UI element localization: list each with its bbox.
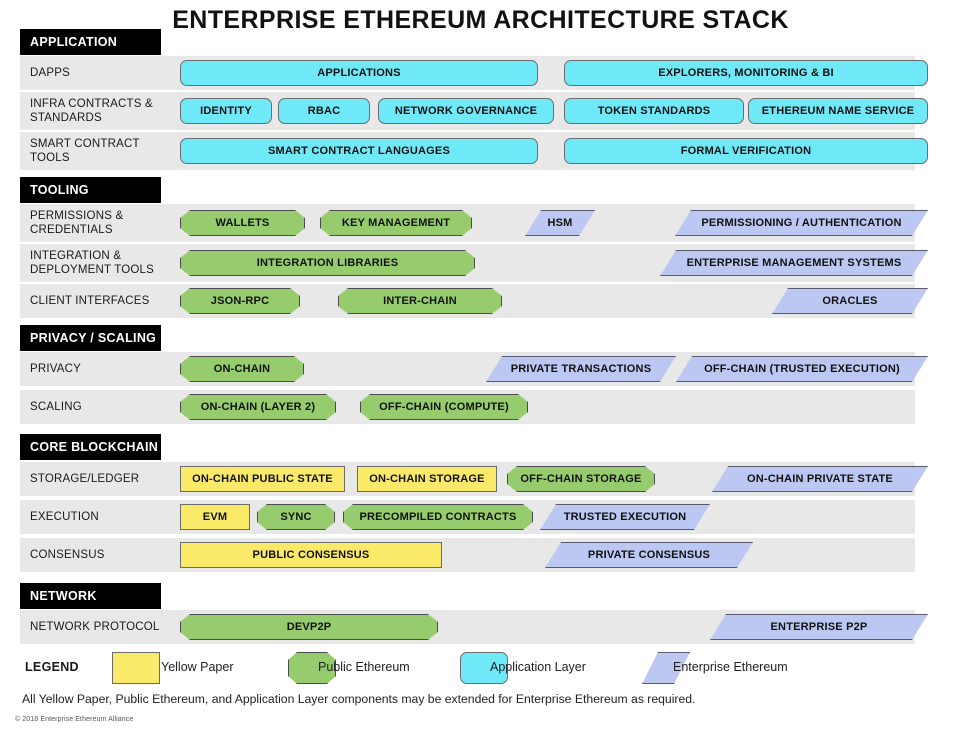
- stack-component-label: PUBLIC CONSENSUS: [247, 549, 376, 561]
- stack-component[interactable]: APPLICATIONS: [180, 60, 538, 86]
- stack-component[interactable]: EVM: [180, 504, 250, 530]
- stack-component-label: ETHEREUM NAME SERVICE: [756, 105, 921, 117]
- stack-component[interactable]: FORMAL VERIFICATION: [564, 138, 928, 164]
- row-label: STORAGE/LEDGER: [30, 462, 170, 496]
- row-label: CLIENT INTERFACES: [30, 284, 170, 318]
- stack-component-label: ON-CHAIN PUBLIC STATE: [186, 473, 339, 485]
- row-label: NETWORK PROTOCOL: [30, 610, 170, 644]
- stack-component-label: EVM: [197, 511, 233, 523]
- stack-component-label: SYNC: [274, 511, 317, 523]
- stack-component-label: WALLETS: [210, 217, 276, 229]
- stack-row: EXECUTIONEVMSYNCPRECOMPILED CONTRACTSTRU…: [20, 500, 915, 534]
- stack-component[interactable]: RBAC: [278, 98, 370, 124]
- stack-component[interactable]: NETWORK GOVERNANCE: [378, 98, 554, 124]
- legend-label: Yellow Paper: [161, 652, 234, 682]
- section-header-tooling: TOOLING: [20, 177, 161, 203]
- stack-component[interactable]: PRIVATE TRANSACTIONS: [486, 356, 676, 382]
- stack-component[interactable]: JSON-RPC: [180, 288, 300, 314]
- architecture-stack-diagram: ENTERPRISE ETHEREUM ARCHITECTURE STACK A…: [0, 0, 961, 736]
- stack-component[interactable]: ETHEREUM NAME SERVICE: [748, 98, 928, 124]
- stack-component[interactable]: INTEGRATION LIBRARIES: [180, 250, 475, 276]
- footnote-text: All Yellow Paper, Public Ethereum, and A…: [22, 692, 695, 706]
- stack-component-label: APPLICATIONS: [311, 67, 406, 79]
- stack-component[interactable]: WALLETS: [180, 210, 305, 236]
- row-label: EXECUTION: [30, 500, 170, 534]
- stack-component[interactable]: ON-CHAIN: [180, 356, 304, 382]
- stack-row: CLIENT INTERFACESJSON-RPCINTER-CHAINORAC…: [20, 284, 915, 318]
- stack-row: DAPPSAPPLICATIONSEXPLORERS, MONITORING &…: [20, 56, 915, 90]
- legend-swatch-yellow-paper: [112, 652, 160, 684]
- stack-row: PRIVACYON-CHAINPRIVATE TRANSACTIONSOFF-C…: [20, 352, 915, 386]
- stack-component-label: OFF-CHAIN (COMPUTE): [373, 401, 515, 413]
- section-header-core-blockchain: CORE BLOCKCHAIN: [20, 434, 161, 460]
- stack-component[interactable]: DEVP2P: [180, 614, 438, 640]
- stack-component-label: ORACLES: [816, 295, 883, 307]
- stack-component[interactable]: ON-CHAIN (LAYER 2): [180, 394, 336, 420]
- stack-component-label: INTEGRATION LIBRARIES: [251, 257, 405, 269]
- stack-row: INTEGRATION & DEPLOYMENT TOOLSINTEGRATIO…: [20, 244, 915, 282]
- stack-component-label: PRIVATE TRANSACTIONS: [505, 363, 658, 375]
- section-header-application: APPLICATION: [20, 29, 161, 55]
- stack-component-label: OFF-CHAIN STORAGE: [514, 473, 647, 485]
- stack-component-label: ON-CHAIN PRIVATE STATE: [741, 473, 899, 485]
- section-header-privacy-scaling: PRIVACY / SCALING: [20, 325, 161, 351]
- stack-component-label: HSM: [541, 217, 578, 229]
- stack-row: STORAGE/LEDGERON-CHAIN PUBLIC STATEON-CH…: [20, 462, 915, 496]
- legend-label: Application Layer: [490, 652, 586, 682]
- row-label: DAPPS: [30, 56, 170, 90]
- stack-component[interactable]: SMART CONTRACT LANGUAGES: [180, 138, 538, 164]
- stack-component-label: KEY MANAGEMENT: [336, 217, 456, 229]
- stack-component[interactable]: PUBLIC CONSENSUS: [180, 542, 442, 568]
- row-label: PERMISSIONS & CREDENTIALS: [30, 204, 170, 242]
- legend-label: Enterprise Ethereum: [673, 652, 788, 682]
- stack-row: SCALINGON-CHAIN (LAYER 2)OFF-CHAIN (COMP…: [20, 390, 915, 424]
- stack-component-label: ON-CHAIN STORAGE: [363, 473, 490, 485]
- legend-label: Public Ethereum: [318, 652, 410, 682]
- stack-component-label: IDENTITY: [194, 105, 258, 117]
- stack-row: CONSENSUSPUBLIC CONSENSUSPRIVATE CONSENS…: [20, 538, 915, 572]
- stack-component-label: JSON-RPC: [205, 295, 275, 307]
- legend-title: LEGEND: [25, 652, 79, 682]
- row-label: CONSENSUS: [30, 538, 170, 572]
- stack-component[interactable]: ON-CHAIN STORAGE: [357, 466, 497, 492]
- stack-component[interactable]: SYNC: [257, 504, 335, 530]
- stack-component-label: PRIVATE CONSENSUS: [582, 549, 716, 561]
- stack-component-label: SMART CONTRACT LANGUAGES: [262, 145, 456, 157]
- stack-component[interactable]: PRECOMPILED CONTRACTS: [343, 504, 533, 530]
- stack-row: NETWORK PROTOCOLDEVP2PENTERPRISE P2P: [20, 610, 915, 644]
- legend: LEGENDYellow PaperPublic EthereumApplica…: [20, 652, 915, 682]
- stack-component-label: ON-CHAIN (LAYER 2): [195, 401, 321, 413]
- stack-component-label: ENTERPRISE MANAGEMENT SYSTEMS: [681, 257, 908, 269]
- row-label: SMART CONTRACT TOOLS: [30, 132, 170, 170]
- stack-component-label: ENTERPRISE P2P: [765, 621, 874, 633]
- stack-component-label: NETWORK GOVERNANCE: [389, 105, 543, 117]
- stack-component[interactable]: OFF-CHAIN (COMPUTE): [360, 394, 528, 420]
- stack-row: PERMISSIONS & CREDENTIALSWALLETSKEY MANA…: [20, 204, 915, 242]
- stack-component[interactable]: ON-CHAIN PUBLIC STATE: [180, 466, 345, 492]
- stack-component[interactable]: ORACLES: [772, 288, 928, 314]
- stack-component[interactable]: PERMISSIONING / AUTHENTICATION: [675, 210, 928, 236]
- stack-component[interactable]: TOKEN STANDARDS: [564, 98, 744, 124]
- stack-component[interactable]: PRIVATE CONSENSUS: [545, 542, 753, 568]
- stack-row: INFRA CONTRACTS & STANDARDSIDENTITYRBACN…: [20, 92, 915, 130]
- stack-component[interactable]: ENTERPRISE MANAGEMENT SYSTEMS: [660, 250, 928, 276]
- stack-component-label: EXPLORERS, MONITORING & BI: [652, 67, 840, 79]
- stack-component[interactable]: ON-CHAIN PRIVATE STATE: [712, 466, 928, 492]
- stack-component[interactable]: EXPLORERS, MONITORING & BI: [564, 60, 928, 86]
- stack-component-label: FORMAL VERIFICATION: [675, 145, 818, 157]
- stack-component-label: RBAC: [302, 105, 347, 117]
- stack-component-label: DEVP2P: [281, 621, 338, 633]
- stack-component-label: TOKEN STANDARDS: [592, 105, 717, 117]
- stack-component-label: PRECOMPILED CONTRACTS: [354, 511, 523, 523]
- stack-component[interactable]: ENTERPRISE P2P: [710, 614, 928, 640]
- row-label: PRIVACY: [30, 352, 170, 386]
- stack-component-label: OFF-CHAIN (TRUSTED EXECUTION): [698, 363, 906, 375]
- stack-component[interactable]: OFF-CHAIN (TRUSTED EXECUTION): [676, 356, 928, 382]
- stack-component[interactable]: IDENTITY: [180, 98, 272, 124]
- copyright-text: © 2018 Enterprise Ethereum Alliance: [15, 716, 133, 723]
- stack-row: SMART CONTRACT TOOLSSMART CONTRACT LANGU…: [20, 132, 915, 170]
- stack-component[interactable]: INTER-CHAIN: [338, 288, 502, 314]
- stack-component-label: ON-CHAIN: [208, 363, 277, 375]
- stack-component-label: PERMISSIONING / AUTHENTICATION: [695, 217, 907, 229]
- row-label: INTEGRATION & DEPLOYMENT TOOLS: [30, 244, 170, 282]
- stack-component-label: INTER-CHAIN: [377, 295, 463, 307]
- row-label: SCALING: [30, 390, 170, 424]
- section-header-network: NETWORK: [20, 583, 161, 609]
- row-label: INFRA CONTRACTS & STANDARDS: [30, 92, 170, 130]
- stack-component[interactable]: TRUSTED EXECUTION: [540, 504, 710, 530]
- stack-component[interactable]: HSM: [525, 210, 595, 236]
- stack-component-label: TRUSTED EXECUTION: [558, 511, 693, 523]
- stack-component[interactable]: KEY MANAGEMENT: [320, 210, 472, 236]
- stack-component[interactable]: OFF-CHAIN STORAGE: [507, 466, 655, 492]
